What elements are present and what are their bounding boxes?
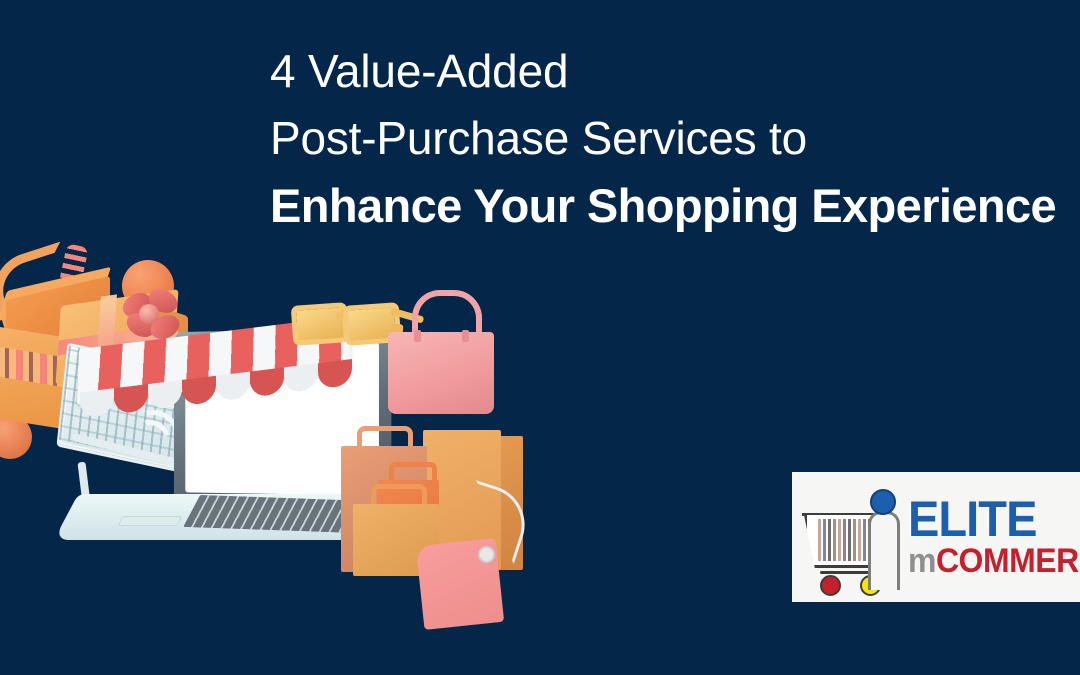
handbag-body: [388, 332, 494, 414]
logo-elite-text: ELITE®: [908, 495, 1080, 543]
ecommerce-illustration: [0, 240, 600, 620]
price-tag-icon: [420, 532, 506, 628]
logo-cart-wheel-red: [820, 575, 841, 596]
brand-logo[interactable]: ELITE® mCOMMERCE: [792, 472, 1080, 602]
logo-elite-label: ELITE: [908, 491, 1036, 547]
logo-shopping-cart-icon: [798, 485, 906, 589]
logo-person-head: [870, 489, 896, 515]
handbag-clip: [462, 330, 469, 342]
handbag-icon: [388, 288, 494, 414]
logo-mcommerce-text: mCOMMERCE: [908, 543, 1080, 579]
logo-m-label: m: [908, 542, 936, 580]
logo-person-body: [868, 511, 900, 590]
logo-commerce-label: COMMERCE: [936, 542, 1080, 580]
laptop-trackpad: [117, 516, 182, 526]
headline-block: 4 Value-Added Post-Purchase Services to …: [270, 38, 1080, 239]
handbag-clip: [414, 330, 421, 342]
headline-line-2: Post-Purchase Services to: [270, 105, 1080, 172]
sunglasses-lens-left: [291, 302, 350, 346]
logo-wordmark: ELITE® mCOMMERCE: [906, 495, 1080, 579]
headline-line-1: 4 Value-Added: [270, 38, 1080, 105]
logo-barcode-icon: [818, 519, 874, 561]
headline-line-3: Enhance Your Shopping Experience: [270, 172, 1080, 239]
promo-banner: 4 Value-Added Post-Purchase Services to …: [0, 0, 1080, 675]
